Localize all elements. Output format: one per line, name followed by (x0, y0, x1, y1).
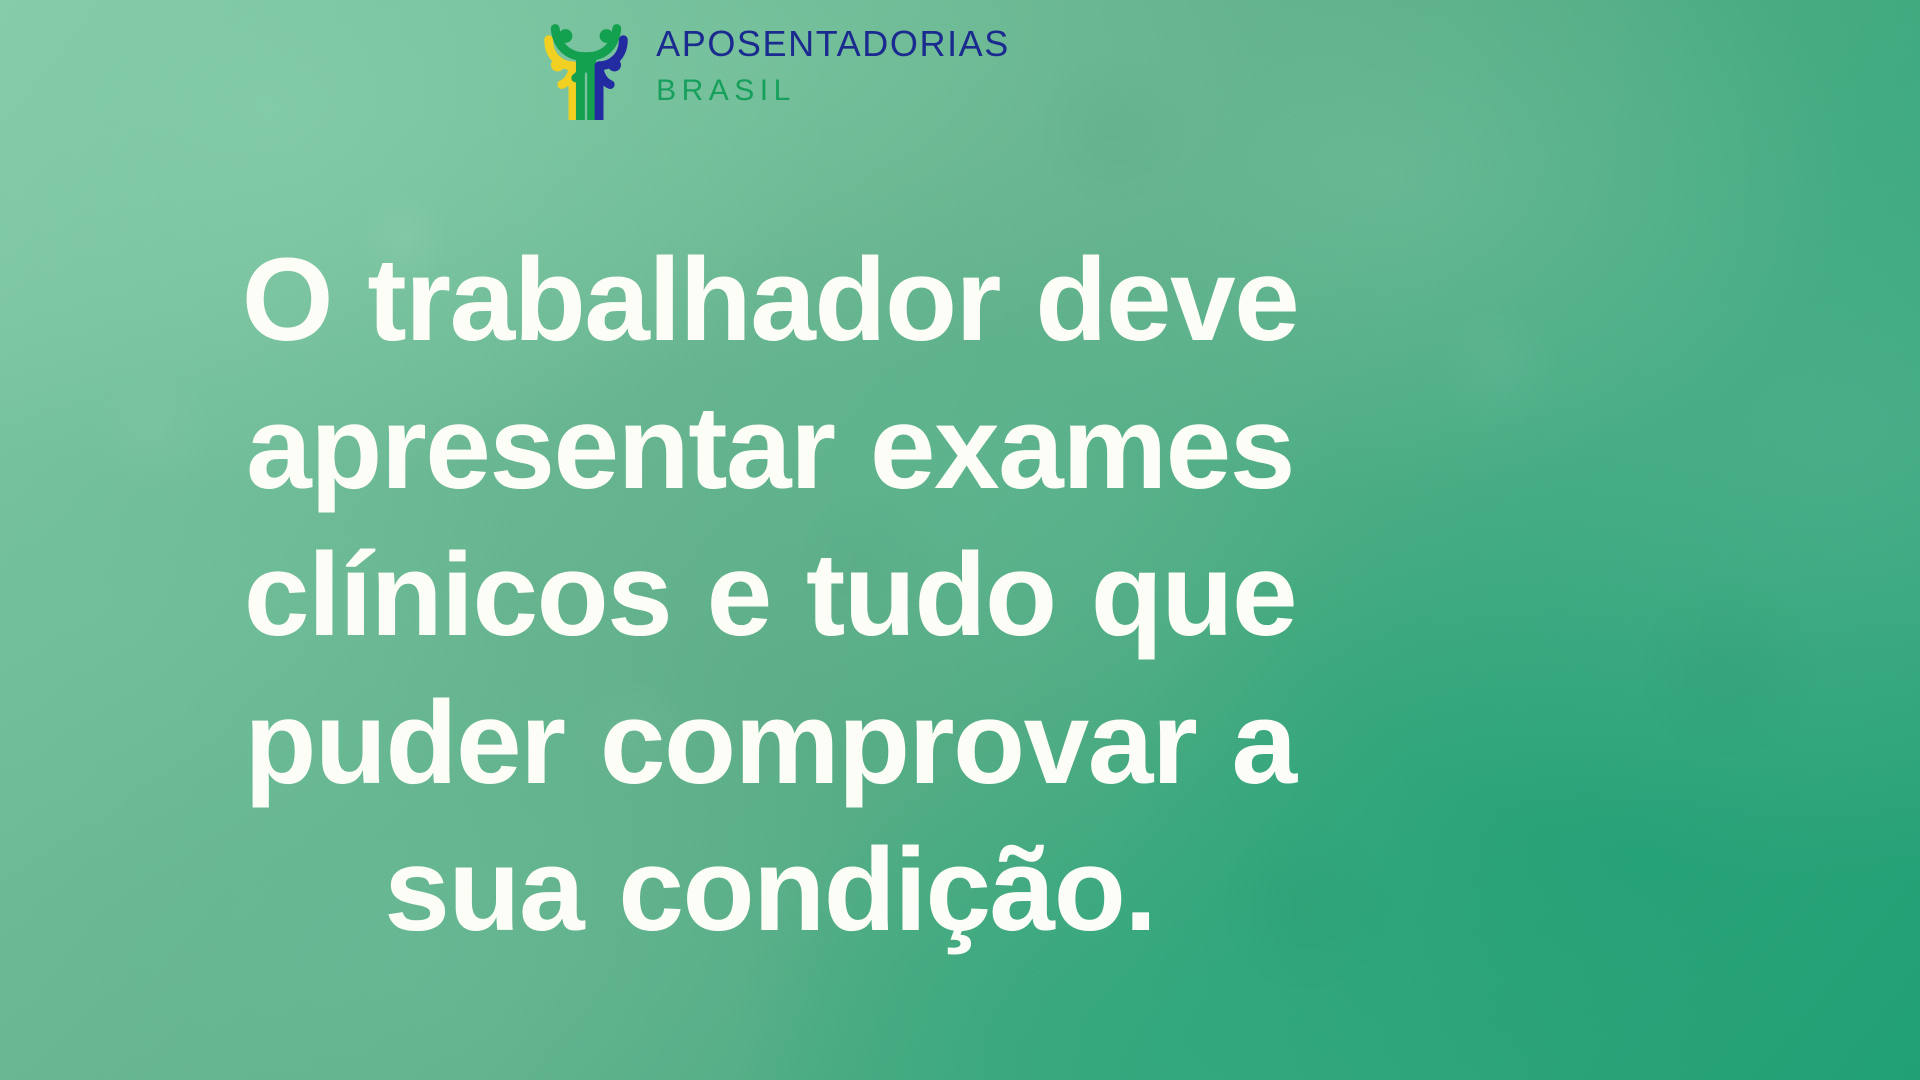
headline-line-4: puder comprovar a (60, 670, 1480, 818)
headline-line-5: sua condição. (60, 817, 1480, 965)
headline-line-2: apresentar exames (60, 375, 1480, 523)
brand-name-secondary: BRASIL (656, 76, 1010, 106)
three-people-raised-arms-icon (530, 8, 642, 120)
headline-line-1: O trabalhador deve (60, 227, 1480, 375)
headline-line-3: clínicos e tudo que (60, 522, 1480, 670)
brand-logo: APOSENTADORIAS BRASIL (0, 8, 1540, 120)
headline-text: O trabalhador deve apresentar exames clí… (0, 227, 1540, 965)
brand-name-primary: APOSENTADORIAS (656, 26, 1010, 62)
poster-canvas: APOSENTADORIAS BRASIL O trabalhador deve… (0, 0, 1920, 1080)
brand-wordmark: APOSENTADORIAS BRASIL (656, 22, 1010, 106)
